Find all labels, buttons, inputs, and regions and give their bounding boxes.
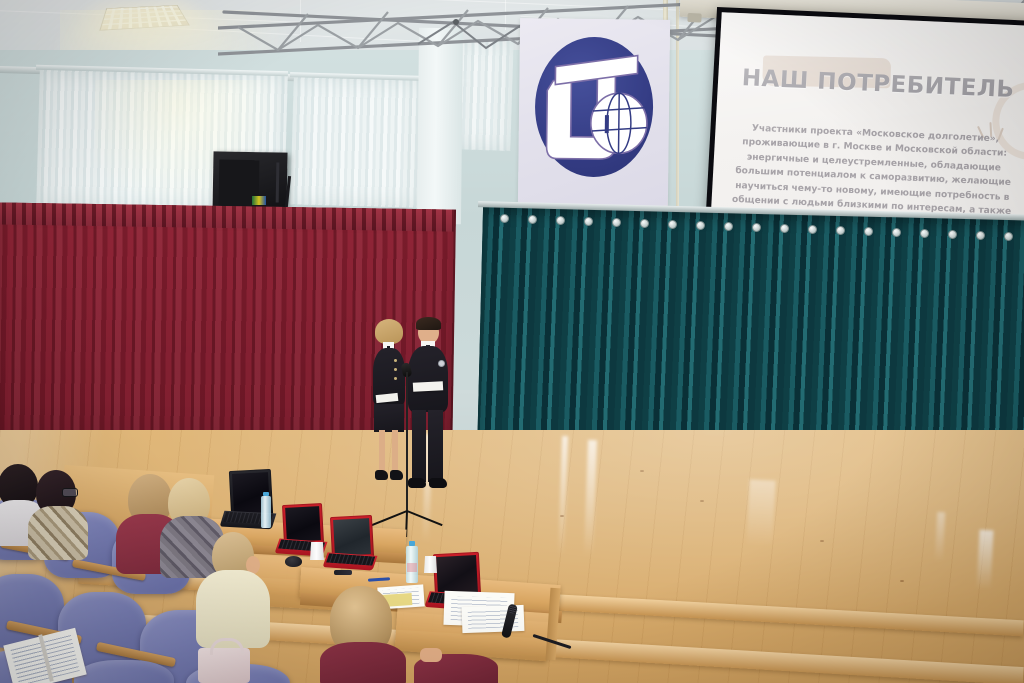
ceiling-seam [120, 25, 460, 44]
computer-mouse [285, 556, 302, 567]
presenter-leg [392, 430, 398, 472]
photo-scene: НАШ ПОТРЕБИТЕЛЬ Участники проекта «Моско… [0, 0, 1024, 683]
presenter-hair [375, 319, 403, 344]
eyeglasses-icon [62, 488, 78, 497]
ceiling-seam [300, 0, 301, 42]
ceiling-seam [505, 0, 506, 30]
presenter-male [405, 318, 451, 504]
water-bottle-1 [261, 492, 271, 528]
blazer-button [394, 377, 397, 380]
microphone-stand-pole [406, 372, 408, 512]
presenter-shoe [429, 478, 447, 488]
presenter-female [368, 322, 408, 492]
presenter-trouser-leg [428, 410, 443, 482]
paper-cup-1 [310, 542, 324, 560]
presenter-leg [379, 430, 385, 472]
floor-reflection [746, 479, 775, 546]
vertical-blinds-mid [290, 76, 422, 208]
handbag [198, 648, 250, 683]
water-bottle-2 [406, 541, 418, 583]
blazer-button [394, 359, 397, 362]
wall-pipe-secondary [676, 0, 679, 210]
slide-title: НАШ ПОТРЕБИТЕЛЬ [718, 64, 1024, 104]
ito-logo-icon [518, 18, 670, 206]
presenter-shoe [408, 478, 426, 488]
laptop-red-2 [325, 516, 373, 572]
presenter-shoe [375, 470, 388, 480]
wall-logo-banner [518, 18, 670, 206]
audience-hand [420, 648, 442, 662]
presenter-skirt [374, 404, 404, 432]
slide-title-block: НАШ ПОТРЕБИТЕЛЬ [718, 64, 1024, 104]
presenter-trouser-leg [412, 410, 426, 482]
wall-column [417, 28, 463, 224]
handbag-handle [210, 638, 244, 655]
cable-connectors [252, 196, 266, 205]
lapel-pin-icon [438, 360, 445, 367]
mouse-secondary [334, 570, 352, 575]
presenter-hair [416, 317, 441, 330]
presenter-shoe [390, 470, 403, 480]
blazer-button [394, 368, 397, 371]
presenter-rolled-paper [413, 381, 443, 392]
paper-cup-2 [424, 556, 437, 573]
presenter-jacket [408, 346, 448, 412]
